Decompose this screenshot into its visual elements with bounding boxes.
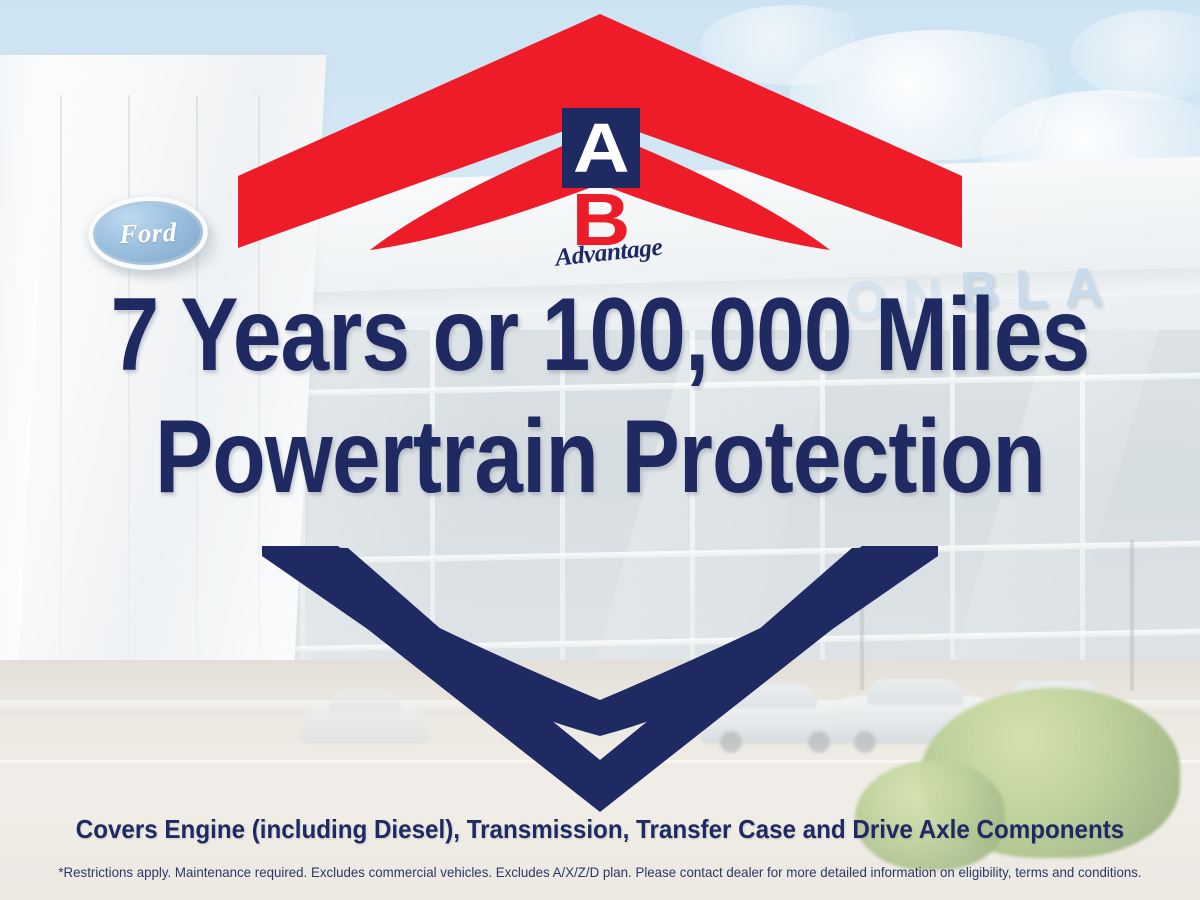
disclaimer-text: *Restrictions apply. Maintenance require… [30, 864, 1170, 880]
promo-banner: Ford ON BLA [0, 0, 1200, 900]
coverage-statement: Covers Engine (including Diesel), Transm… [42, 814, 1158, 845]
headline-line-2: Powertrain Protection [96, 408, 1104, 508]
logo-letter-a: A [573, 118, 630, 178]
navy-v-body [262, 546, 938, 812]
headline-line-1: 7 Years or 100,000 Miles [96, 286, 1104, 386]
headline: 7 Years or 100,000 Miles Powertrain Prot… [0, 286, 1200, 508]
navy-inner-chevron [352, 584, 848, 736]
logo-letter-a-box: A [562, 108, 640, 188]
ab-advantage-logo: A B Advantage [556, 108, 646, 268]
